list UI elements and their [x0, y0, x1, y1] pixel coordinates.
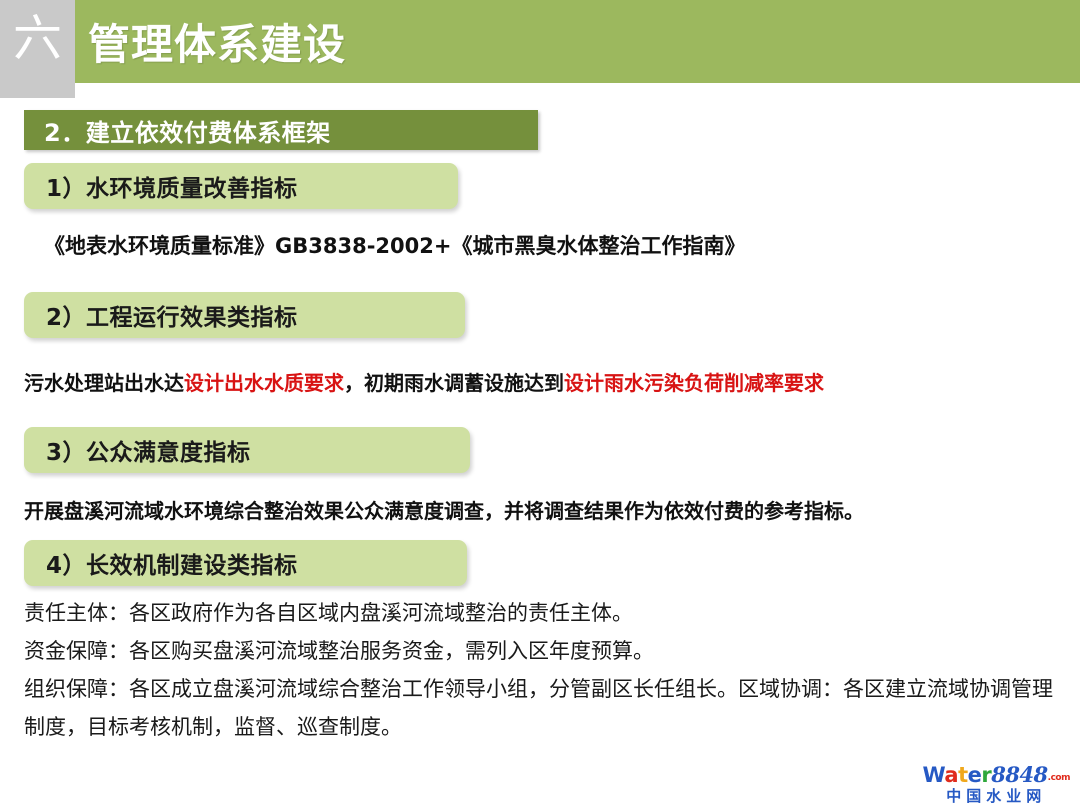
section-bar: 2．建立依效付费体系框架 [24, 110, 538, 150]
section-bar-label: 2．建立依效付费体系框架 [24, 113, 331, 148]
watermark-tld: .com [1048, 773, 1070, 783]
watermark-letter-e: e [968, 763, 982, 787]
subsection-pill-2: 2）工程运行效果类指标 [24, 292, 465, 338]
watermark-letter-t: t [958, 763, 968, 787]
watermark-letter-w: W [922, 763, 944, 787]
watermark-letter-a: a [944, 763, 958, 787]
effect-text-highlight-2: 设计雨水污染负荷削减率要求 [564, 371, 824, 395]
watermark-number: 8848 [991, 762, 1047, 787]
paragraph-responsibility: 责任主体：各区政府作为各自区域内盘溪河流域整治的责任主体。 [24, 594, 1064, 632]
subsection-pill-2-label: 2）工程运行效果类指标 [24, 298, 298, 332]
header-section-number: 六 [13, 4, 62, 74]
slide-canvas: 六 管理体系建设 2．建立依效付费体系框架 1）水环境质量改善指标 《地表水环境… [0, 0, 1080, 810]
subsection-pill-1-label: 1）水环境质量改善指标 [24, 169, 298, 203]
watermark-wordmark: Water8848.com [922, 764, 1070, 786]
subsection-pill-4-label: 4）长效机制建设类指标 [24, 546, 298, 580]
subsection-pill-3-label: 3）公众满意度指标 [24, 433, 251, 467]
effect-text-part2: ，初期雨水调蓄设施达到 [344, 371, 564, 395]
watermark-letter-r: r [981, 763, 991, 787]
header-section-number-box: 六 [0, 0, 75, 98]
watermark-logo: Water8848.com 中国水业网 [922, 764, 1070, 804]
long-term-mechanism-paragraphs: 责任主体：各区政府作为各自区域内盘溪河流域整治的责任主体。 资金保障：各区购买盘… [24, 594, 1064, 746]
paragraph-funding: 资金保障：各区购买盘溪河流域整治服务资金，需列入区年度预算。 [24, 632, 1064, 670]
watermark-chinese-name: 中国水业网 [922, 789, 1070, 804]
effect-text-part1: 污水处理站出水达 [24, 371, 184, 395]
public-satisfaction-line: 开展盘溪河流域水环境综合整治效果公众满意度调查，并将调查结果作为依效付费的参考指… [24, 495, 864, 524]
page-title-text: 管理体系建设 [88, 11, 346, 72]
effect-requirement-line: 污水处理站出水达设计出水水质要求，初期雨水调蓄设施达到设计雨水污染负荷削减率要求 [24, 367, 824, 396]
paragraph-organization: 组织保障：各区成立盘溪河流域综合整治工作领导小组，分管副区长任组长。区域协调：各… [24, 670, 1064, 746]
effect-text-highlight-1: 设计出水水质要求 [184, 371, 344, 395]
subsection-pill-1: 1）水环境质量改善指标 [24, 163, 458, 209]
subsection-pill-4: 4）长效机制建设类指标 [24, 540, 467, 586]
standard-reference-line: 《地表水环境质量标准》GB3838-2002+《城市黑臭水体整治工作指南》 [44, 230, 745, 260]
subsection-pill-3: 3）公众满意度指标 [24, 427, 470, 473]
page-title: 管理体系建设 [88, 0, 346, 83]
